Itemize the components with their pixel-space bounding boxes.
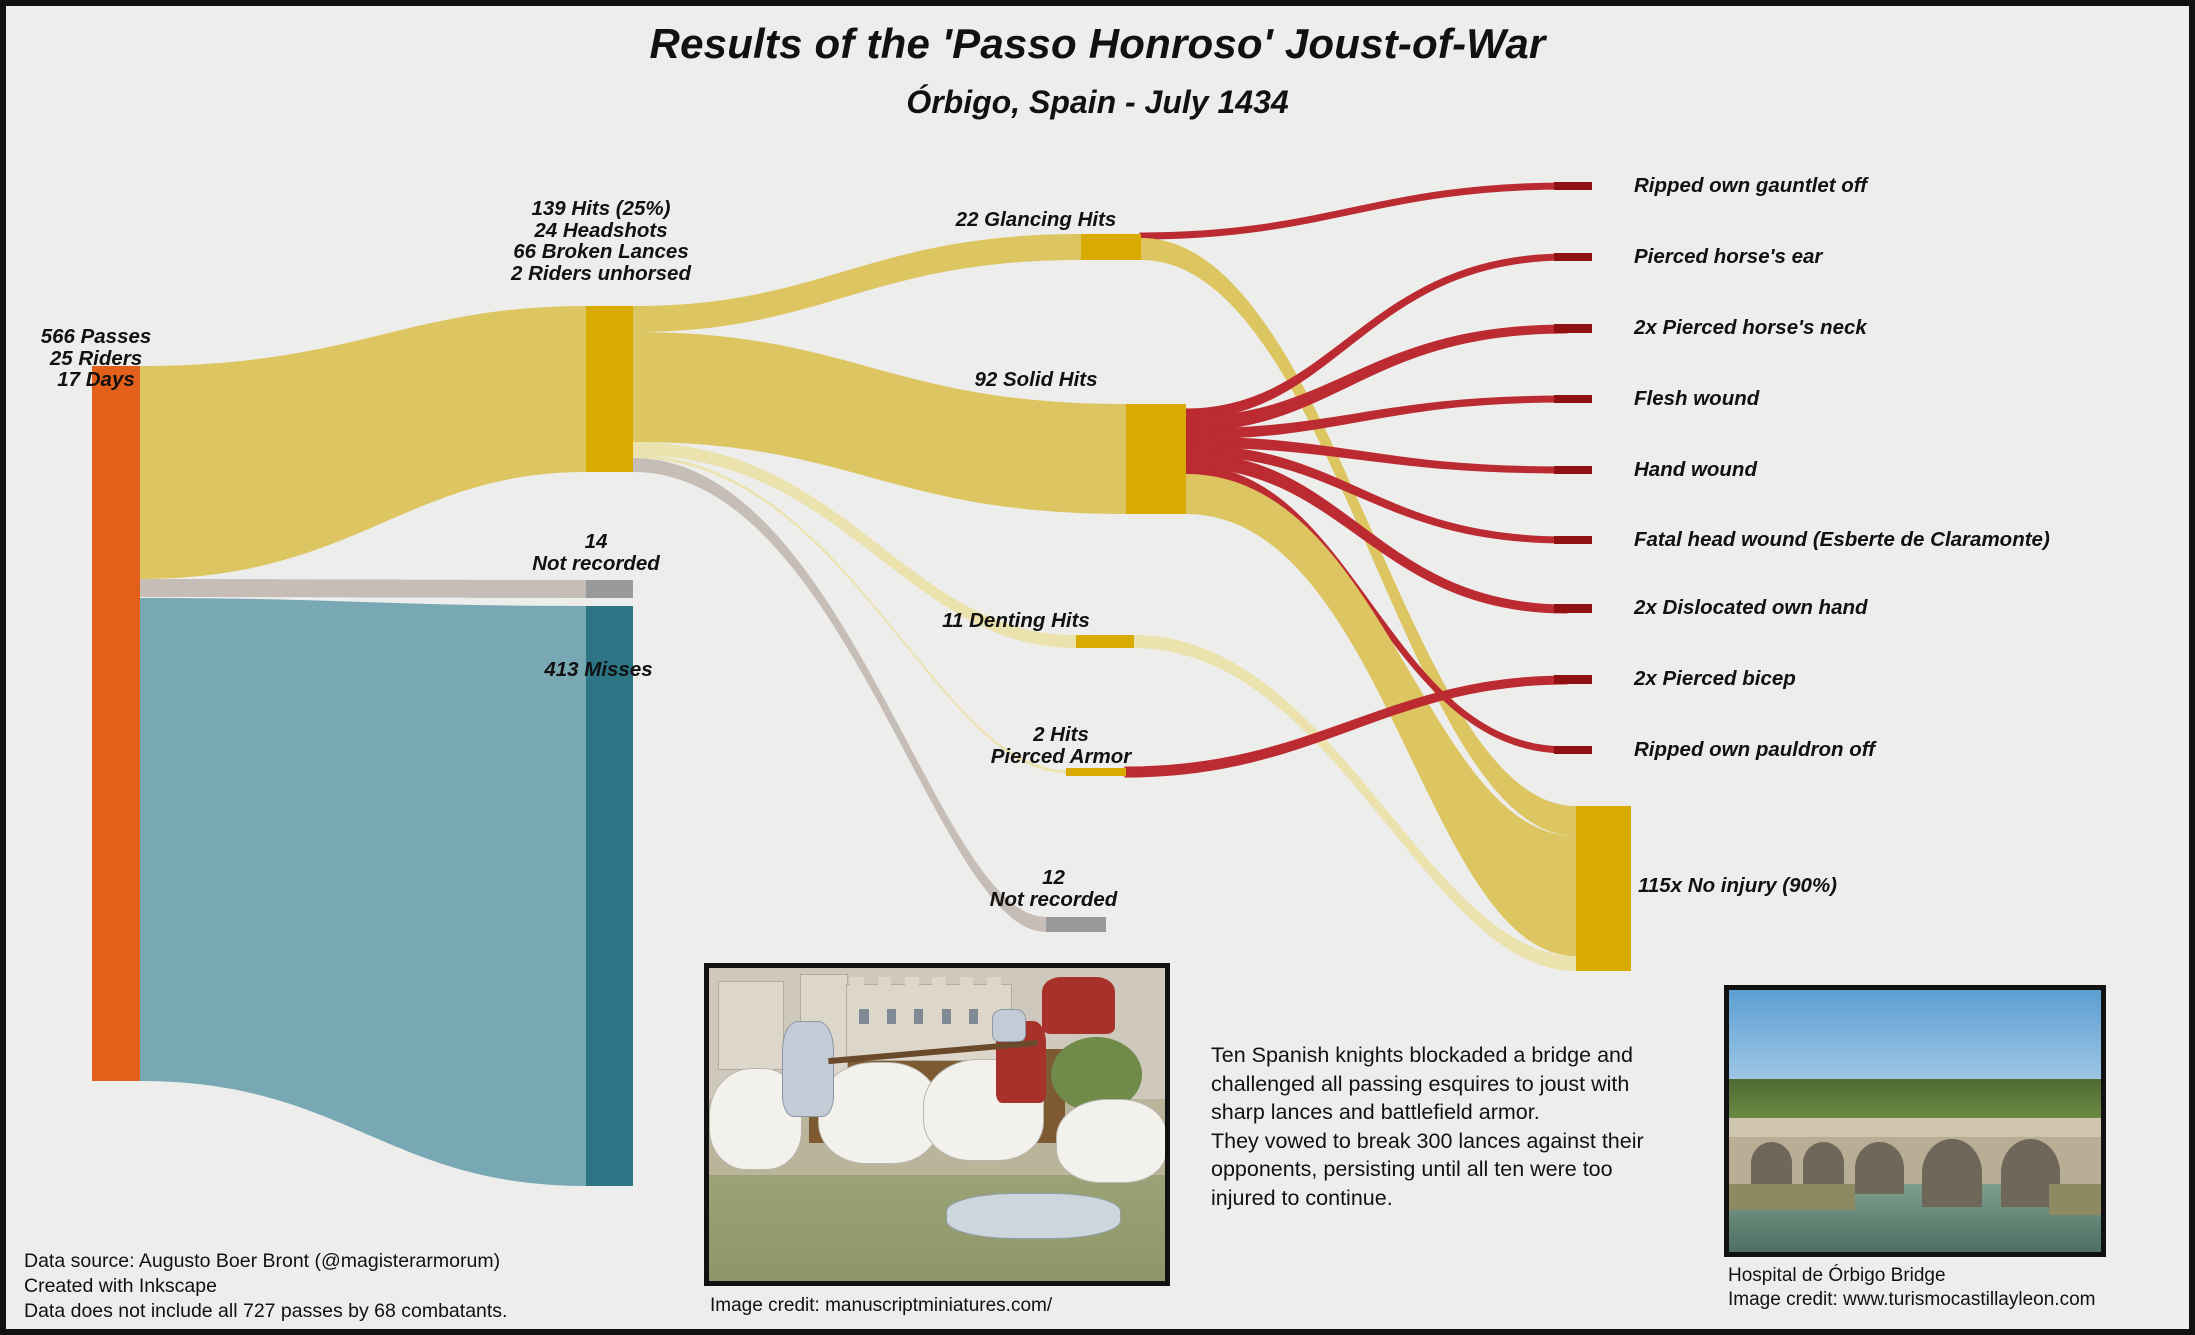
node-outcome-gauntlet (1554, 182, 1592, 190)
node-outcome-horse-neck (1554, 324, 1592, 333)
node-no-injury (1576, 806, 1631, 971)
outcome-label-bicep: 2x Pierced bicep (1634, 667, 1796, 691)
description-text: Ten Spanish knights blockaded a bridge a… (1211, 1041, 1686, 1213)
manuscript-image (704, 963, 1170, 1286)
node-denting (1076, 635, 1134, 648)
node-outcome-dislocated-hand (1554, 604, 1592, 613)
link-passes-to-not-recorded (140, 579, 586, 598)
node-not-recorded-1 (586, 580, 633, 598)
infographic-page: Results of the 'Passo Honroso' Joust-of-… (0, 0, 2195, 1335)
node-glancing (1081, 234, 1141, 260)
outcome-label-pauldron: Ripped own pauldron off (1634, 738, 1875, 762)
node-outcome-flesh-wound (1554, 395, 1592, 403)
node-label-glancing-hits: 22 Glancing Hits (886, 209, 1186, 231)
node-misses (586, 606, 633, 1186)
node-label-not-recorded-2: 12 Not recorded (936, 867, 1171, 910)
outcome-label-fatal-head-wound: Fatal head wound (Esberte de Claramonte) (1634, 528, 2050, 552)
node-outcome-bicep (1554, 675, 1592, 684)
bridge-caption: Hospital de Órbigo Bridge Image credit: … (1728, 1264, 2095, 1313)
node-label-not-recorded-1: 14 Not recorded (446, 531, 746, 574)
link-pierced-armor-to-bicep (1126, 677, 1566, 776)
node-not-recorded-2 (1046, 917, 1106, 932)
node-outcome-pauldron (1554, 746, 1592, 754)
node-label-pierced-armor: 2 Hits Pierced Armor (936, 724, 1186, 767)
node-label-hits: 139 Hits (25%) 24 Headshots 66 Broken La… (406, 198, 796, 284)
node-label-denting-hits: 11 Denting Hits (866, 610, 1166, 632)
link-hits-to-not-recorded-2 (633, 458, 1046, 932)
node-pierced-armor (1066, 768, 1126, 776)
node-label-misses: 413 Misses (466, 659, 731, 681)
node-outcome-fatal-head-wound (1554, 536, 1592, 544)
node-outcome-hand-wound (1554, 466, 1592, 474)
node-passes (92, 366, 140, 1081)
outcome-label-horse-neck: 2x Pierced horse's neck (1634, 316, 1867, 340)
outcome-label-gauntlet: Ripped own gauntlet off (1634, 174, 1867, 198)
node-label-passes: 566 Passes 25 Riders 17 Days (6, 326, 186, 391)
footer-credits: Data source: Augusto Boer Bront (@magist… (24, 1249, 584, 1324)
page-title: Results of the 'Passo Honroso' Joust-of-… (6, 20, 2189, 68)
page-subtitle: Órbigo, Spain - July 1434 (6, 84, 2189, 121)
link-glancing-to-gauntlet (1141, 184, 1566, 238)
bridge-photo (1729, 990, 2101, 1252)
link-passes-to-misses (140, 598, 586, 1186)
node-solid (1126, 404, 1186, 514)
bridge-image (1724, 985, 2106, 1257)
manuscript-illustration (709, 968, 1165, 1281)
outcome-label-horse-ear: Pierced horse's ear (1634, 245, 1822, 269)
outcome-label-hand-wound: Hand wound (1634, 458, 1757, 482)
outcome-label-flesh-wound: Flesh wound (1634, 387, 1759, 411)
manuscript-caption: Image credit: manuscriptminiatures.com/ (710, 1294, 1052, 1318)
node-outcome-horse-ear (1554, 253, 1592, 261)
node-hits (586, 306, 633, 472)
outcome-label-dislocated-hand: 2x Dislocated own hand (1634, 596, 1868, 620)
node-label-solid-hits: 92 Solid Hits (886, 369, 1186, 391)
node-label-no-injury: 115x No injury (90%) (1638, 875, 2058, 897)
